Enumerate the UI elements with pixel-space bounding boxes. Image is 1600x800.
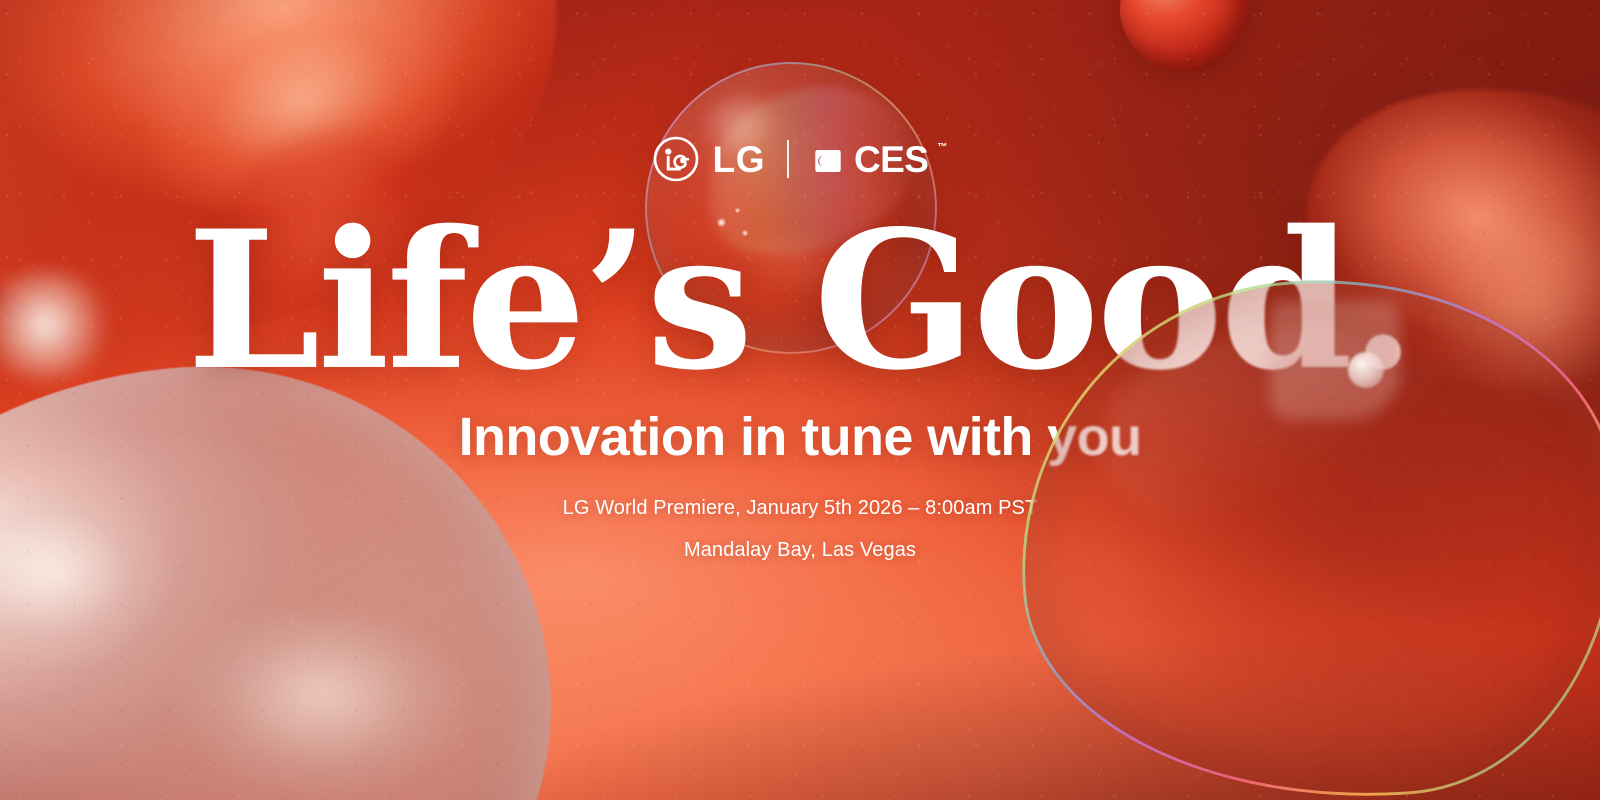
ces-trademark-symbol: ™ — [937, 143, 947, 153]
lg-logo-lockup: LG — [653, 136, 765, 182]
event-venue: Mandalay Bay, Las Vegas — [563, 540, 1038, 560]
ces-logo-lockup: CES ™ — [811, 141, 947, 178]
hero-tagline: Innovation in tune with you — [459, 410, 1142, 464]
lg-face-logo-icon — [653, 136, 699, 182]
ces-mark-icon — [811, 144, 845, 178]
ces-wordmark: CES — [854, 141, 928, 178]
ces-hero-banner: LG CES ™ Life’s Good. Innovation in tune… — [0, 0, 1600, 800]
event-details: LG World Premiere, January 5th 2026 – 8:… — [563, 498, 1038, 560]
logo-lockup-row: LG CES ™ — [653, 136, 948, 182]
event-datetime: LG World Premiere, January 5th 2026 – 8:… — [563, 498, 1038, 518]
logo-divider — [787, 140, 789, 178]
lg-wordmark: LG — [713, 141, 765, 178]
glass-slab-droplet — [1348, 352, 1384, 388]
